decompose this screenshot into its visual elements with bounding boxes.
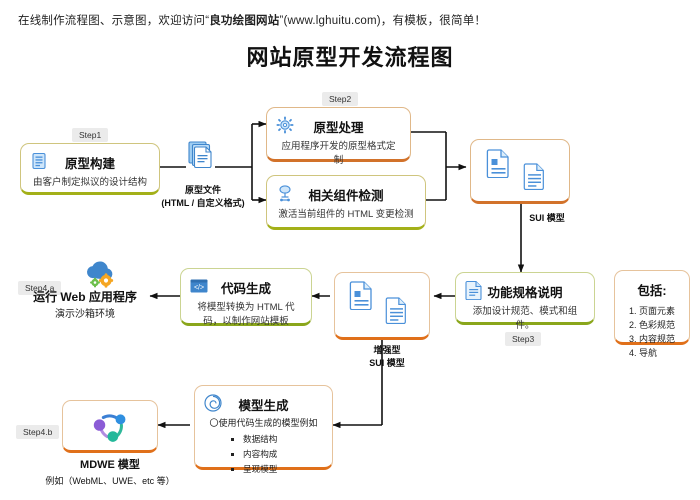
document-chart-icon <box>349 280 375 315</box>
caption-line-2: SUI 模型 <box>342 357 432 370</box>
node-title: 原型处理 <box>267 117 410 136</box>
node-desc: 应用程序开发的原型格式定制 <box>277 140 400 168</box>
banner-suffix: ”(www.lghuitu.com)，有模板，很简单！ <box>279 15 486 27</box>
node-prototype-process[interactable]: 原型处理 应用程序开发的原型格式定制 <box>266 107 411 162</box>
node-desc: 激活当前组件的 HTML 变更检测 <box>277 208 415 222</box>
node-title: 代码生成 <box>181 278 311 297</box>
nodes-graph-icon <box>87 407 133 452</box>
includes-list: 1. 页面元素 2. 色彩规范 3. 内容规范 4. 导航 <box>629 305 681 361</box>
list-item: 呈现模型 <box>243 463 320 477</box>
caption-mdwe-model: MDWE 模型 例如（WebML、UWE、etc 等） <box>44 458 176 488</box>
caption-line-1: MDWE 模型 <box>44 458 176 473</box>
node-func-spec[interactable]: 功能规格说明 添加设计规范、模式和组件。 <box>455 272 595 325</box>
banner-prefix: 在线制作流程图、示意图，欢迎访问“ <box>18 15 209 27</box>
caption-line-1: 原型文件 <box>148 184 258 197</box>
banner-site-name: 良功绘图网站 <box>209 15 279 27</box>
step-tag-1: Step1 <box>72 128 108 142</box>
caption-sui-model: SUI 模型 <box>502 212 592 225</box>
cloud-gear-icon <box>82 258 116 288</box>
node-component-detect[interactable]: 相关组件检测 激活当前组件的 HTML 变更检测 <box>266 175 426 230</box>
step-tag-2: Step2 <box>322 92 358 106</box>
document-lines-icon <box>523 162 547 195</box>
step-tag-3: Step3 <box>505 332 541 346</box>
node-code-generation[interactable]: </> 代码生成 将模型转换为 HTML 代码，以制作网站模板 <box>180 268 312 326</box>
caption-line-1: SUI 模型 <box>502 212 592 225</box>
step-tag-4b: Step4.b <box>16 425 59 439</box>
document-lines-icon <box>385 296 409 329</box>
list-item: 4. 导航 <box>629 347 681 361</box>
list-item: 1. 页面元素 <box>629 305 681 319</box>
node-run-web-app-title: 运行 Web 应用程序 <box>20 288 150 305</box>
site-banner: 在线制作流程图、示意图，欢迎访问“良功绘图网站”(www.lghuitu.com… <box>18 12 486 28</box>
node-desc: 将模型转换为 HTML 代码，以制作网站模板 <box>191 301 301 329</box>
node-enhanced-sui-model[interactable] <box>334 272 430 340</box>
page-title: 网站原型开发流程图 <box>0 40 700 72</box>
caption-enhanced-sui: 增强型 SUI 模型 <box>342 344 432 369</box>
document-chart-icon <box>486 148 512 183</box>
node-title: 原型构建 <box>21 153 159 172</box>
node-title: 相关组件检测 <box>267 185 425 204</box>
list-item: 数据结构 <box>243 433 320 447</box>
caption-prototype-file: 原型文件 (HTML / 自定义格式) <box>148 184 258 209</box>
node-includes[interactable]: 包括: 1. 页面元素 2. 色彩规范 3. 内容规范 4. 导航 <box>614 270 690 345</box>
node-model-generation[interactable]: 模型生成 〇使用代码生成的模型例如 数据结构 内容构成 呈现模型 <box>194 385 333 470</box>
flowchart-canvas: 在线制作流程图、示意图，欢迎访问“良功绘图网站”(www.lghuitu.com… <box>0 0 700 500</box>
caption-line-2: 例如（WebML、UWE、etc 等） <box>44 475 176 488</box>
node-title: 功能规格说明 <box>456 282 594 301</box>
documents-stack-icon <box>186 140 218 170</box>
node-mdwe-model[interactable] <box>62 400 158 453</box>
node-sui-model[interactable] <box>470 139 570 204</box>
list-item: 2. 色彩规范 <box>629 319 681 333</box>
node-prototype-build[interactable]: 原型构建 由客户制定拟议的设计结构 <box>20 143 160 195</box>
model-gen-list: 数据结构 内容构成 呈现模型 <box>229 433 320 477</box>
node-run-web-app-desc: 演示沙箱环境 <box>20 305 150 320</box>
node-desc: 由客户制定拟议的设计结构 <box>31 176 149 190</box>
node-title: 模型生成 <box>195 395 332 414</box>
list-item: 3. 内容规范 <box>629 333 681 347</box>
node-lead-text: 〇使用代码生成的模型例如 <box>203 416 324 429</box>
node-desc: 添加设计规范、模式和组件。 <box>466 305 584 333</box>
caption-line-1: 增强型 <box>342 344 432 357</box>
caption-line-2: (HTML / 自定义格式) <box>148 197 258 210</box>
list-item: 内容构成 <box>243 448 320 462</box>
includes-title: 包括: <box>615 280 689 299</box>
